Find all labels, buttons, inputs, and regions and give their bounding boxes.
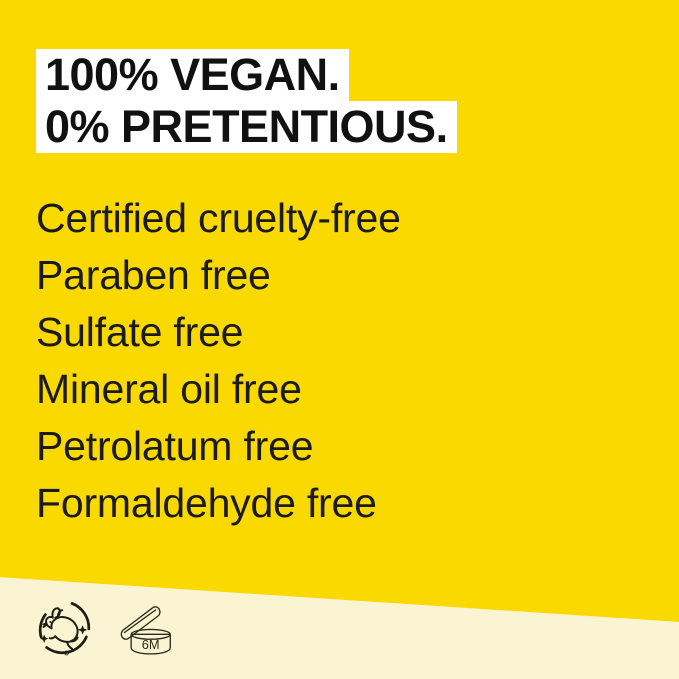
headline-block: 100% VEGAN. 0% PRETENTIOUS. (36, 49, 596, 153)
leaping-bunny-icon (33, 596, 95, 658)
headline-line-vegan: 100% VEGAN. (36, 49, 349, 101)
list-item: Petrolatum free (36, 418, 401, 475)
claims-list: Certified cruelty-free Paraben free Sulf… (36, 190, 401, 532)
pao-duration-label: 6M (142, 637, 160, 652)
period-after-opening-jar-icon: 6M (111, 596, 177, 658)
list-item: Mineral oil free (36, 361, 401, 418)
list-item: Paraben free (36, 247, 401, 304)
list-item: Certified cruelty-free (36, 190, 401, 247)
product-claims-panel: 100% VEGAN. 0% PRETENTIOUS. Certified cr… (0, 0, 679, 679)
headline-line-pretentious: 0% PRETENTIOUS. (36, 101, 457, 153)
list-item: Formaldehyde free (36, 475, 401, 532)
symbol-strip: 6M (33, 596, 177, 658)
list-item: Sulfate free (36, 304, 401, 361)
